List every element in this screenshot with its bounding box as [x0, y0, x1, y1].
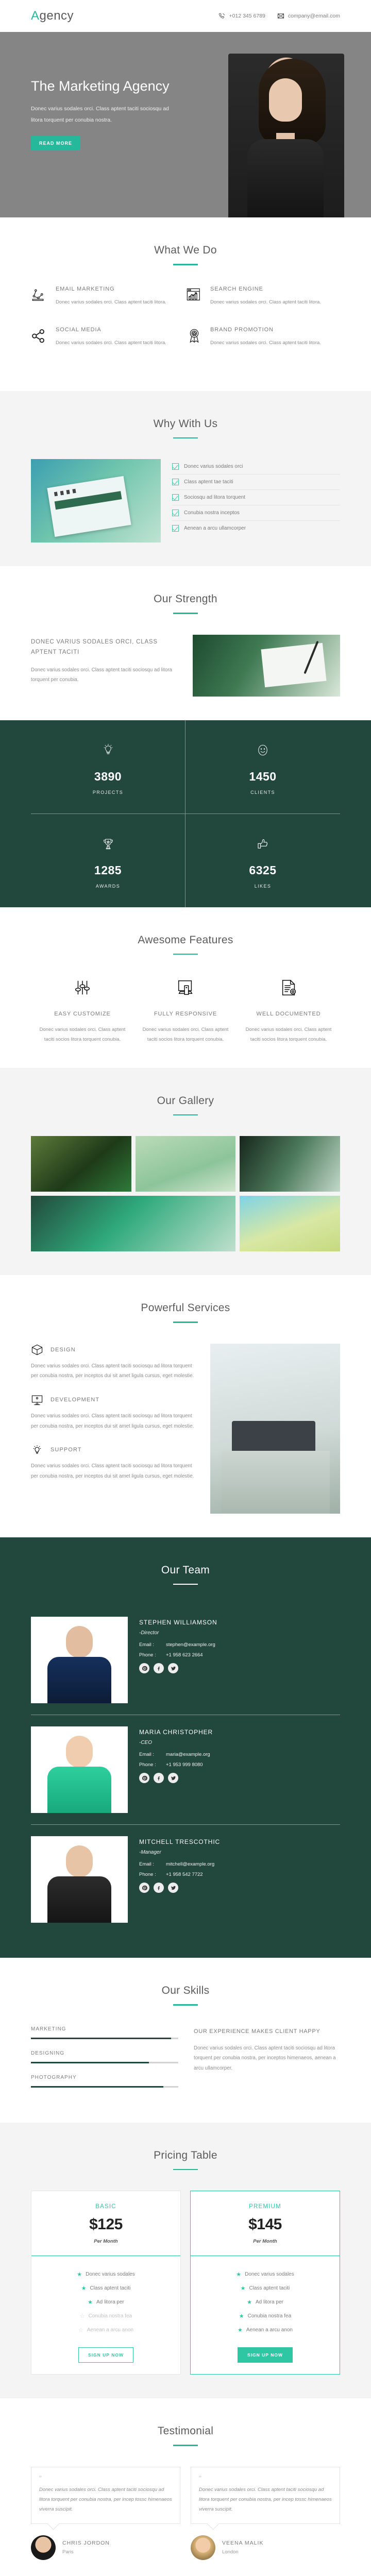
- plan-price: $145: [191, 2216, 340, 2233]
- phone-icon: [218, 12, 226, 20]
- progress-fill: [31, 2086, 163, 2088]
- counter-label: CLIENTS: [185, 790, 340, 795]
- strength-text: Donec varius sodales orci. Class aptent …: [31, 665, 180, 685]
- legs-graphic: [222, 1451, 330, 1514]
- plan-feature: ★Ad litora per: [191, 2295, 340, 2309]
- list-item: Conubia nostra inceptos: [172, 505, 340, 521]
- facebook-icon[interactable]: [154, 1773, 164, 1783]
- service-item: SEARCH ENGINEDonec varius sodales orci. …: [185, 286, 340, 327]
- section-title: Awesome Features: [31, 934, 340, 946]
- twitter-icon[interactable]: [168, 1883, 178, 1893]
- avatar: [31, 1836, 128, 1923]
- document-gear-icon: [244, 975, 333, 1000]
- title-underline: [173, 613, 198, 614]
- why-with-us-list: Donec varius sodales orci Class aptent t…: [172, 459, 340, 543]
- testimonial-city: London: [222, 2549, 263, 2555]
- check-icon: [172, 494, 179, 501]
- plan-tier: PREMIUM: [191, 2204, 340, 2210]
- plan-feature: ★Ad litora per: [31, 2295, 180, 2309]
- counter-value: 1285: [31, 863, 185, 877]
- member-head: [66, 1845, 93, 1877]
- features-heading: Awesome Features: [31, 934, 340, 955]
- plan-feature: ☆Conubia nostra fea: [31, 2309, 180, 2323]
- feature-title: WELL DOCUMENTED: [244, 1009, 333, 1020]
- member-name: MARIA CHRISTOPHER: [139, 1728, 340, 1736]
- member-name: MITCHELL TRESCOTHIC: [139, 1838, 340, 1845]
- what-we-do-heading: What We Do: [31, 244, 340, 265]
- testimonial-city: Paris: [62, 2549, 110, 2555]
- why-with-us-section: Why With Us Donec varius sodales orci Cl…: [0, 391, 371, 567]
- star-icon: ★: [247, 2299, 252, 2306]
- section-title: Why With Us: [31, 418, 340, 430]
- plan-feature: ☆Aenean a arcu anon: [31, 2323, 180, 2337]
- member-head: [66, 1736, 93, 1768]
- plan-feature-label: Class aptent taciti: [90, 2285, 130, 2291]
- title-underline: [173, 2445, 198, 2446]
- avatar: [31, 2535, 56, 2560]
- skills-text: Donec varius sodales orci. Class aptent …: [194, 2043, 340, 2074]
- list-item-label: Conubia nostra inceptos: [184, 510, 240, 516]
- quote-icon: “: [39, 2476, 172, 2482]
- service-block: DESIGN Donec varius sodales orci. Class …: [31, 1344, 198, 1381]
- phone-label: Phone :: [139, 1872, 166, 1877]
- list-item: Donec varius sodales orci: [172, 459, 340, 474]
- pricing-plan-premium: PREMIUM $145 Per Month ★Donec varius sod…: [190, 2191, 340, 2375]
- list-item-label: Donec varius sodales orci: [184, 464, 243, 469]
- star-icon: ★: [88, 2299, 93, 2306]
- member-role: -Director: [139, 1630, 340, 1636]
- feature-item: FULLY RESPONSIVE Donec varius sodales or…: [134, 975, 237, 1044]
- member-email-row: Email :maria@example.org: [139, 1752, 340, 1757]
- section-title: Our Team: [31, 1564, 340, 1577]
- counter-item: 1450 CLIENTS: [185, 720, 340, 814]
- plan-feature-label: Aenean a arcu anon: [87, 2327, 133, 2333]
- progress-track: [31, 2086, 178, 2088]
- email-address[interactable]: company@email.com: [288, 13, 340, 19]
- twitter-icon[interactable]: [168, 1663, 178, 1673]
- facebook-icon[interactable]: [154, 1663, 164, 1673]
- top-contact-info: +012 345 6789 company@email.com: [218, 12, 340, 20]
- plan-feature-label: Aenean a arcu anon: [246, 2327, 293, 2333]
- plan-period: Per Month: [31, 2239, 180, 2244]
- skill-bar: DESIGNING: [31, 2050, 178, 2063]
- lightbulb-icon: [31, 1444, 43, 1456]
- skill-bar: PHOTOGRAPHY: [31, 2075, 178, 2088]
- section-title: Our Skills: [31, 1985, 340, 1997]
- facebook-icon[interactable]: [154, 1883, 164, 1893]
- member-head: [66, 1626, 93, 1658]
- feature-title: EASY CUSTOMIZE: [38, 1009, 127, 1020]
- plan-feature-label: Conubia nostra fea: [89, 2313, 132, 2319]
- service-text: Donec varius sodales orci. Class aptent …: [210, 338, 321, 348]
- sign-up-button[interactable]: SIGN UP NOW: [78, 2347, 133, 2363]
- avatar: [191, 2535, 215, 2560]
- service-block: DEVELOPMENT Donec varius sodales orci. C…: [31, 1394, 198, 1431]
- pinterest-icon[interactable]: [139, 1663, 149, 1673]
- skill-label: PHOTOGRAPHY: [31, 2075, 178, 2080]
- star-outline-icon: ☆: [78, 2327, 83, 2333]
- counter-value: 1450: [185, 770, 340, 784]
- plan-feature-label: Donec varius sodales: [86, 2272, 135, 2277]
- service-text: Donec varius sodales orci. Class aptent …: [31, 1361, 198, 1381]
- award-ribbon-icon: [185, 327, 203, 348]
- feature-text: Donec varius sodales orci. Class aptent …: [141, 1025, 230, 1044]
- awesome-features-section: Awesome Features EASY CUSTOMIZE Donec va…: [0, 907, 371, 1068]
- avatar: [31, 1726, 128, 1813]
- envelope-icon: [277, 12, 284, 20]
- our-strength-section: Our Strength DONEC VARIUS SODALES ORCI, …: [0, 566, 371, 720]
- testimonial-section: Testimonial “ Donec varius sodales orci.…: [0, 2398, 371, 2576]
- list-item-label: Sociosqu ad litora torquent: [184, 495, 245, 500]
- service-text: Donec varius sodales orci. Class aptent …: [31, 1411, 198, 1431]
- section-title: Testimonial: [31, 2425, 340, 2437]
- pricing-section: Pricing Table BASIC $125 Per Month ★Done…: [0, 2123, 371, 2399]
- feature-item: EASY CUSTOMIZE Donec varius sodales orci…: [31, 975, 134, 1044]
- section-title: Pricing Table: [31, 2149, 340, 2162]
- line-chart-icon: [31, 286, 48, 307]
- counter-item: 1285 AWARDS: [31, 814, 185, 907]
- sliders-icon: [38, 975, 127, 1000]
- hero-banner: The Marketing Agency Donec varius sodale…: [0, 32, 371, 217]
- plan-feature-label: Class aptent taciti: [249, 2285, 290, 2291]
- hero-suit: [247, 139, 324, 217]
- section-title: Our Strength: [31, 593, 340, 605]
- email-label: Email :: [139, 1752, 166, 1757]
- list-item: Aenean a arcu ullamcorper: [172, 521, 340, 536]
- service-title: DESIGN: [50, 1347, 76, 1353]
- skill-label: DESIGNING: [31, 2050, 178, 2056]
- plan-feature: ★Aenean a arcu anon: [191, 2323, 340, 2337]
- service-item: SOCIAL MEDIADonec varius sodales orci. C…: [31, 327, 185, 367]
- counter-value: 3890: [31, 770, 185, 784]
- share-nodes-icon: [31, 327, 48, 348]
- our-skills-section: Our Skills MARKETING DESIGNING PHOTOGRAP…: [0, 1958, 371, 2123]
- member-role: -Manager: [139, 1850, 340, 1855]
- site-logo[interactable]: Agency: [31, 9, 74, 23]
- feature-text: Donec varius sodales orci. Class aptent …: [244, 1025, 333, 1044]
- title-underline: [173, 437, 198, 439]
- progress-track: [31, 2038, 178, 2039]
- cube-icon: [31, 1344, 43, 1356]
- counter-value: 6325: [185, 863, 340, 877]
- service-title: DEVELOPMENT: [50, 1397, 99, 1403]
- star-icon: ★: [239, 2313, 244, 2319]
- service-item: EMAIL MARKETINGDonec varius sodales orci…: [31, 286, 185, 327]
- hero-subtitle: Donec varius sodales orci. Class aptent …: [31, 103, 170, 126]
- phone-number[interactable]: +012 345 6789: [229, 13, 265, 19]
- plan-tier: BASIC: [31, 2204, 180, 2210]
- progress-track: [31, 2062, 178, 2063]
- avatar: [31, 1617, 128, 1703]
- member-phone[interactable]: +1 958 623 2664: [166, 1652, 203, 1658]
- thumbs-up-icon: [185, 832, 340, 856]
- title-underline: [173, 1114, 198, 1116]
- star-icon: ★: [241, 2285, 246, 2292]
- testimonial-name: VEENA MALIK: [222, 2540, 263, 2546]
- read-more-button[interactable]: READ MORE: [31, 136, 80, 150]
- member-body: [47, 1657, 111, 1703]
- monitor-icon: [31, 1394, 43, 1406]
- feature-text: Donec varius sodales orci. Class aptent …: [38, 1025, 127, 1044]
- testimonial-card: “ Donec varius sodales orci. Class apten…: [31, 2467, 180, 2560]
- title-underline: [173, 1321, 198, 1323]
- our-strength-heading: Our Strength: [31, 593, 340, 614]
- title-underline: [173, 2169, 198, 2171]
- services-image: [210, 1344, 340, 1514]
- gallery-heading: Our Gallery: [31, 1095, 340, 1116]
- feature-item: WELL DOCUMENTED Donec varius sodales orc…: [237, 975, 340, 1044]
- pricing-heading: Pricing Table: [31, 2149, 340, 2171]
- gallery-section: Our Gallery: [0, 1068, 371, 1276]
- member-email[interactable]: stephen@example.org: [166, 1642, 215, 1648]
- title-underline: [173, 954, 198, 955]
- list-item-label: Aenean a arcu ullamcorper: [184, 526, 246, 531]
- why-with-us-heading: Why With Us: [31, 418, 340, 439]
- star-icon: ★: [238, 2327, 243, 2333]
- plan-feature: ★Class aptent taciti: [191, 2281, 340, 2295]
- member-body: [47, 1876, 111, 1923]
- member-phone-row: Phone :+1 953 999 8080: [139, 1762, 340, 1768]
- lightbulb-icon: [31, 738, 185, 762]
- skills-title: OUR EXPERIENCE MAKES CLIENT HAPPY: [194, 2026, 340, 2037]
- member-email-row: Email :mitchell@example.org: [139, 1861, 340, 1867]
- team-member: MITCHELL TRESCOTHIC -Manager Email :mitc…: [31, 1825, 340, 1934]
- logo-first-letter: A: [31, 9, 40, 23]
- skills-heading: Our Skills: [31, 1985, 340, 2006]
- our-strength-image: [193, 635, 340, 697]
- service-text: Donec varius sodales orci. Class aptent …: [56, 297, 166, 307]
- service-title: SEARCH ENGINE: [210, 286, 321, 292]
- gallery-tile-green-camper-van[interactable]: [240, 1196, 340, 1251]
- section-title: What We Do: [31, 244, 340, 257]
- member-email-row: Email :stephen@example.org: [139, 1642, 340, 1648]
- hero-face: [269, 78, 302, 122]
- counter-label: PROJECTS: [31, 790, 185, 795]
- gallery-tile-green-sports-car[interactable]: [31, 1136, 131, 1192]
- skill-bar: MARKETING: [31, 2026, 178, 2039]
- what-we-do-section: What We Do EMAIL MARKETINGDonec varius s…: [0, 217, 371, 391]
- title-underline: [173, 264, 198, 265]
- check-icon: [172, 479, 179, 485]
- member-email[interactable]: mitchell@example.org: [166, 1861, 214, 1867]
- gallery-tile-white-door[interactable]: [136, 1136, 236, 1192]
- check-icon: [172, 463, 179, 470]
- feature-title: FULLY RESPONSIVE: [141, 1009, 230, 1020]
- member-phone[interactable]: +1 953 999 8080: [166, 1762, 203, 1768]
- service-title: EMAIL MARKETING: [56, 286, 166, 292]
- smiley-face-icon: [185, 738, 340, 762]
- service-title: BRAND PROMOTION: [210, 327, 321, 333]
- plan-period: Per Month: [191, 2239, 340, 2244]
- member-phone-row: Phone :+1 958 542 7722: [139, 1872, 340, 1877]
- member-body: [47, 1767, 111, 1813]
- testimonial-name: CHRIS JORDON: [62, 2540, 110, 2546]
- twitter-icon[interactable]: [168, 1773, 178, 1783]
- phone-label: Phone :: [139, 1762, 166, 1768]
- browser-card-graphic: [47, 476, 131, 537]
- pinterest-icon[interactable]: [139, 1883, 149, 1893]
- strength-title: DONEC VARIUS SODALES ORCI, CLASS APTENT …: [31, 637, 180, 658]
- logo-rest: gency: [40, 9, 74, 23]
- plan-feature: ★Class aptent taciti: [31, 2281, 180, 2295]
- plan-feature: ★Donec varius sodales: [191, 2267, 340, 2281]
- member-phone[interactable]: +1 958 542 7722: [166, 1872, 203, 1877]
- plan-feature: ★Conubia nostra fea: [191, 2309, 340, 2323]
- testimonial-text: Donec varius sodales orci. Class aptent …: [199, 2485, 332, 2514]
- email-label: Email :: [139, 1642, 166, 1648]
- browser-chart-icon: [185, 286, 203, 307]
- check-icon: [172, 510, 179, 516]
- list-item: Sociosqu ad litora torquent: [172, 490, 340, 505]
- section-title: Our Gallery: [31, 1095, 340, 1107]
- member-email[interactable]: maria@example.org: [166, 1752, 210, 1757]
- star-icon: ★: [77, 2271, 82, 2278]
- team-member: STEPHEN WILLIAMSON -Director Email :step…: [31, 1605, 340, 1715]
- hero-title: The Marketing Agency: [31, 77, 170, 96]
- services-heading: Powerful Services: [31, 1302, 340, 1323]
- star-icon: ★: [81, 2285, 87, 2292]
- section-title: Powerful Services: [31, 1302, 340, 1314]
- service-item: BRAND PROMOTIONDonec varius sodales orci…: [185, 327, 340, 367]
- member-role: -CEO: [139, 1740, 340, 1745]
- trophy-icon: [31, 832, 185, 856]
- plan-feature-label: Donec varius sodales: [245, 2272, 294, 2277]
- plan-feature-label: Conubia nostra fea: [248, 2313, 292, 2319]
- list-item-label: Class aptent tae taciti: [184, 479, 233, 485]
- why-with-us-image: [31, 459, 161, 543]
- service-title: SUPPORT: [50, 1447, 82, 1453]
- plan-feature: ★Donec varius sodales: [31, 2267, 180, 2281]
- powerful-services-section: Powerful Services DESIGN Donec varius so…: [0, 1275, 371, 1537]
- star-outline-icon: ☆: [80, 2313, 85, 2319]
- counters-section: 3890 PROJECTS 1450 CLIENTS 1285 AWARDS 6…: [0, 720, 371, 907]
- card-dots: [54, 488, 78, 496]
- team-member: MARIA CHRISTOPHER -CEO Email :maria@exam…: [31, 1715, 340, 1825]
- member-name: STEPHEN WILLIAMSON: [139, 1619, 340, 1626]
- counter-label: LIKES: [185, 884, 340, 889]
- progress-fill: [31, 2062, 149, 2063]
- skill-label: MARKETING: [31, 2026, 178, 2032]
- gallery-tile-green-vintage-car[interactable]: [31, 1196, 235, 1251]
- title-underline: [173, 2004, 198, 2006]
- paper-sheet: [261, 642, 326, 687]
- team-heading: Our Team: [31, 1564, 340, 1585]
- plan-price: $125: [31, 2216, 180, 2233]
- service-block: SUPPORT Donec varius sodales orci. Class…: [31, 1444, 198, 1481]
- our-team-section: Our Team STEPHEN WILLIAMSON -Director Em…: [0, 1537, 371, 1958]
- service-text: Donec varius sodales orci. Class aptent …: [210, 297, 321, 307]
- pricing-plan-basic: BASIC $125 Per Month ★Donec varius sodal…: [31, 2191, 181, 2375]
- testimonial-card: “ Donec varius sodales orci. Class apten…: [191, 2467, 340, 2560]
- phone-label: Phone :: [139, 1652, 166, 1658]
- counter-item: 6325 LIKES: [185, 814, 340, 907]
- service-text: Donec varius sodales orci. Class aptent …: [31, 1461, 198, 1481]
- pinterest-icon[interactable]: [139, 1773, 149, 1783]
- plan-feature-label: Ad litora per: [96, 2299, 124, 2305]
- progress-fill: [31, 2038, 171, 2039]
- list-item: Class aptent tae taciti: [172, 474, 340, 490]
- counter-item: 3890 PROJECTS: [31, 720, 185, 814]
- top-bar: Agency +012 345 6789 company@email.com: [31, 0, 340, 32]
- gallery-tile-man-leaning-tree[interactable]: [240, 1136, 340, 1192]
- plan-feature-label: Ad litora per: [256, 2299, 283, 2305]
- responsive-devices-icon: [141, 975, 230, 1000]
- email-label: Email :: [139, 1861, 166, 1867]
- sign-up-button[interactable]: SIGN UP NOW: [238, 2347, 293, 2363]
- star-icon: ★: [236, 2271, 241, 2278]
- member-phone-row: Phone :+1 958 623 2664: [139, 1652, 340, 1658]
- service-text: Donec varius sodales orci. Class aptent …: [56, 338, 166, 348]
- service-title: SOCIAL MEDIA: [56, 327, 166, 333]
- title-underline: [173, 1584, 198, 1585]
- check-icon: [172, 525, 179, 532]
- testimonial-heading: Testimonial: [31, 2425, 340, 2446]
- counter-label: AWARDS: [31, 884, 185, 889]
- testimonial-text: Donec varius sodales orci. Class aptent …: [39, 2485, 172, 2514]
- quote-icon: “: [199, 2476, 332, 2482]
